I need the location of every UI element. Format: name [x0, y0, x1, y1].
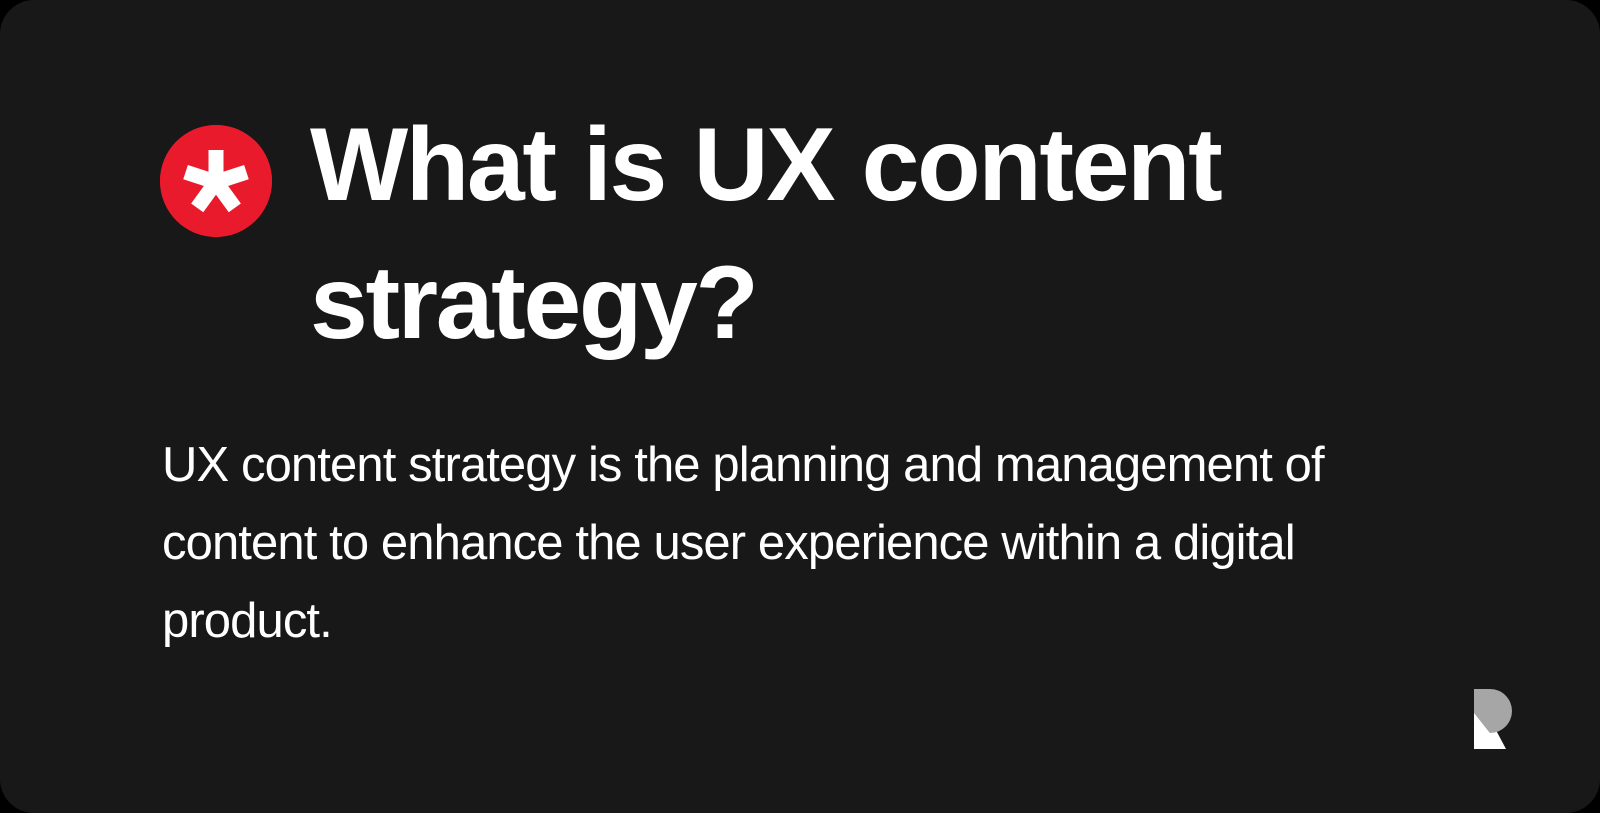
letter-r-logo-icon — [1460, 683, 1516, 755]
heading-block: What is UX content strategy? — [160, 96, 1340, 372]
body-paragraph: UX content strategy is the planning and … — [160, 372, 1377, 660]
content-card: What is UX content strategy? UX content … — [0, 0, 1600, 813]
asterisk-icon — [160, 125, 272, 237]
card-content: What is UX content strategy? UX content … — [160, 96, 1460, 660]
page-title: What is UX content strategy? — [160, 96, 1340, 372]
